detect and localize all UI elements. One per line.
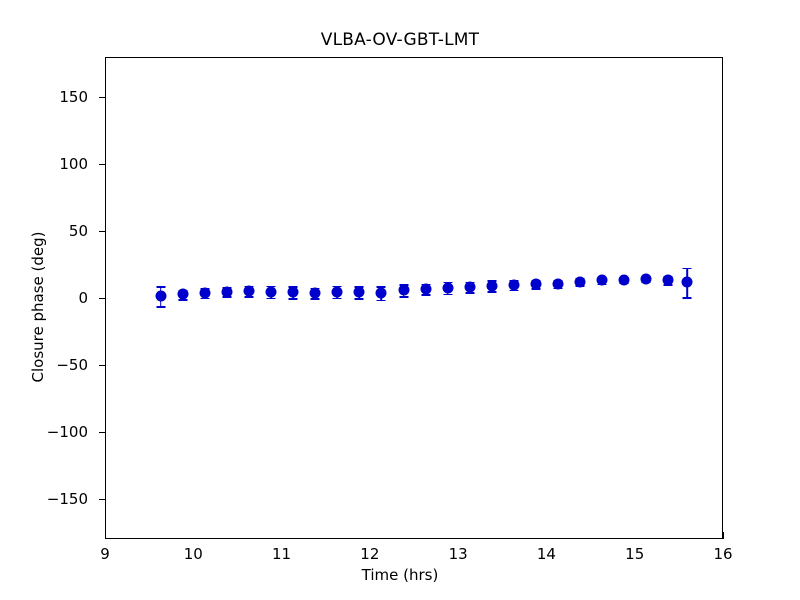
data-marker <box>177 289 188 300</box>
x-axis-tick-label: 13 <box>449 545 468 563</box>
data-marker <box>597 275 608 286</box>
y-axis-label: Closure phase (deg) <box>29 177 47 437</box>
y-axis-tick-label: −150 <box>47 490 88 508</box>
error-bar-cap <box>682 268 691 270</box>
data-marker <box>288 287 299 298</box>
data-marker <box>376 287 387 298</box>
error-bar-cap <box>267 298 276 300</box>
y-axis-tick-label: −100 <box>47 423 88 441</box>
plot-area <box>105 57 723 539</box>
x-axis-tick-mark <box>723 532 724 539</box>
data-marker <box>199 287 210 298</box>
data-marker <box>442 282 453 293</box>
data-marker <box>619 274 630 285</box>
error-bar-cap <box>465 292 474 294</box>
error-bar-cap <box>682 297 691 299</box>
data-marker <box>266 286 277 297</box>
error-bar-cap <box>245 296 254 298</box>
error-bar-cap <box>311 298 320 300</box>
data-marker <box>155 291 166 302</box>
x-axis-label: Time (hrs) <box>0 566 800 584</box>
y-axis-tick-label: 100 <box>59 155 88 173</box>
error-bar-cap <box>421 294 430 296</box>
data-marker <box>530 279 541 290</box>
x-axis-tick-label: 10 <box>184 545 203 563</box>
data-marker <box>464 281 475 292</box>
error-bar-cap <box>289 298 298 300</box>
data-marker <box>575 276 586 287</box>
x-axis-tick-label: 9 <box>100 545 110 563</box>
data-marker <box>398 285 409 296</box>
error-bar-cap <box>156 306 165 308</box>
x-axis-tick-label: 15 <box>625 545 644 563</box>
error-bar-cap <box>443 294 452 296</box>
data-marker <box>244 285 255 296</box>
error-bar-cap <box>399 296 408 298</box>
data-marker <box>332 286 343 297</box>
x-axis-tick-label: 16 <box>713 545 732 563</box>
data-marker <box>641 273 652 284</box>
chart-title: VLBA-OV-GBT-LMT <box>0 30 800 50</box>
y-axis-tick-label: 0 <box>78 289 88 307</box>
data-marker <box>553 278 564 289</box>
error-bar-cap <box>355 298 364 300</box>
x-axis-tick-label: 12 <box>360 545 379 563</box>
error-bar-cap <box>377 300 386 302</box>
error-bar-cap <box>156 286 165 288</box>
error-bar-cap <box>333 298 342 300</box>
y-axis-tick-label: 150 <box>59 88 88 106</box>
x-axis-tick-label: 11 <box>272 545 291 563</box>
error-bar-cap <box>487 291 496 293</box>
data-marker <box>681 277 692 288</box>
figure-canvas: VLBA-OV-GBT-LMT Closure phase (deg) Time… <box>0 0 800 600</box>
data-marker <box>508 279 519 290</box>
x-axis-tick-label: 14 <box>537 545 556 563</box>
data-marker <box>420 283 431 294</box>
data-marker <box>310 287 321 298</box>
y-axis-tick-label: 50 <box>69 222 88 240</box>
data-marker <box>221 286 232 297</box>
y-axis-tick-label: −50 <box>56 356 88 374</box>
data-marker <box>486 280 497 291</box>
data-marker <box>663 275 674 286</box>
data-marker <box>354 287 365 298</box>
